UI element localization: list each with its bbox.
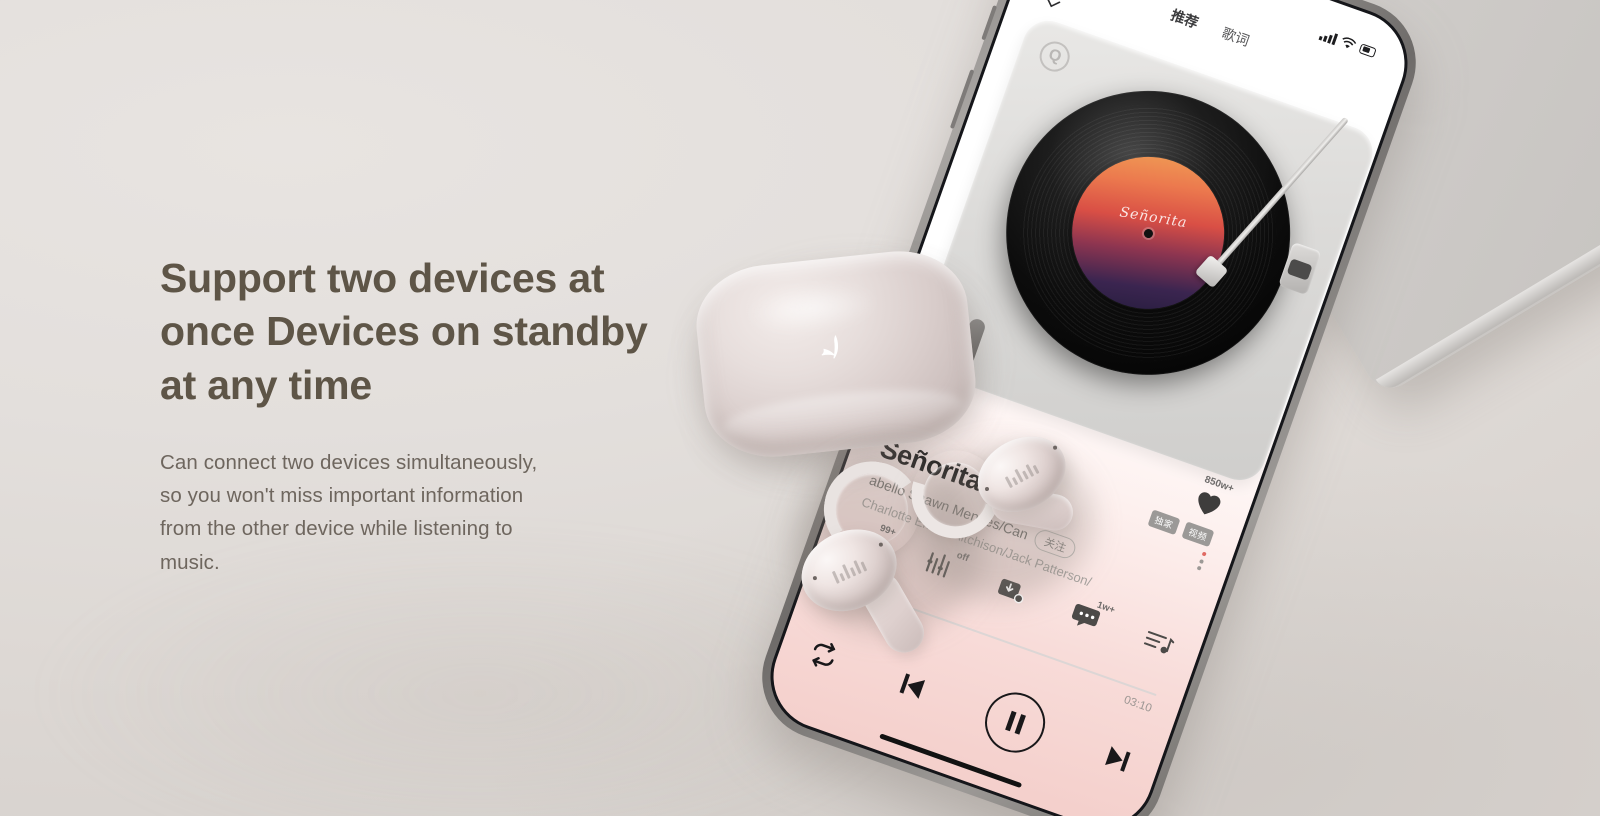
- play-pause-button[interactable]: [977, 684, 1054, 761]
- album-signature: Señorita: [1119, 204, 1189, 231]
- grille-bar: [850, 567, 856, 576]
- earbud-right: [900, 423, 1097, 611]
- album-art: Señorita: [1051, 136, 1245, 330]
- status-bar-indicators: [1319, 28, 1378, 59]
- next-glyph-icon: [1099, 740, 1137, 778]
- marketing-copy: Support two devices at once Devices on s…: [160, 252, 700, 579]
- grille-bar: [860, 561, 867, 571]
- comment-icon[interactable]: 1w+: [1065, 597, 1105, 636]
- grille-bar: [1012, 477, 1018, 485]
- wifi-icon: [1339, 35, 1357, 51]
- speaker-grille-icon: [831, 557, 867, 584]
- kebab-dot: [1197, 566, 1202, 571]
- speaker-grille-icon: [1004, 460, 1040, 488]
- kebab-dot: [1199, 559, 1204, 564]
- more-options-icon[interactable]: [1197, 551, 1207, 570]
- signal-icon: [1319, 28, 1339, 45]
- vinyl-record: Señorita: [967, 52, 1330, 415]
- product-scene: Support two devices at once Devices on s…: [0, 0, 1600, 816]
- tab-lyrics[interactable]: 歌词: [1219, 23, 1252, 51]
- chevron-down-icon[interactable]: [1038, 0, 1066, 17]
- page-description: Can connect two devices simultaneously, …: [160, 446, 700, 579]
- heart-icon[interactable]: 850w+: [1188, 484, 1227, 525]
- previous-track-icon[interactable]: [893, 667, 931, 705]
- total-time: 03:10: [1122, 694, 1153, 715]
- pause-bar: [1005, 711, 1016, 732]
- q-music-logo-icon: Q: [1036, 37, 1074, 75]
- pause-bar: [1014, 714, 1025, 735]
- previous-glyph-icon: [893, 667, 931, 705]
- kebab-dot: [1202, 551, 1207, 556]
- page-title: Support two devices at once Devices on s…: [160, 252, 700, 412]
- tab-recommended[interactable]: 推荐: [1168, 5, 1201, 33]
- leaf-wing-logo-glyph: [814, 330, 858, 370]
- grille-bar: [1033, 465, 1040, 474]
- playlist-glyph-icon: [1138, 623, 1178, 662]
- next-track-icon[interactable]: [1099, 740, 1137, 778]
- battery-icon: [1359, 43, 1377, 58]
- grille-bar: [839, 573, 845, 582]
- leaf-wing-logo-icon: [814, 330, 858, 370]
- grille-bar: [832, 571, 840, 584]
- playlist-icon[interactable]: [1138, 623, 1178, 662]
